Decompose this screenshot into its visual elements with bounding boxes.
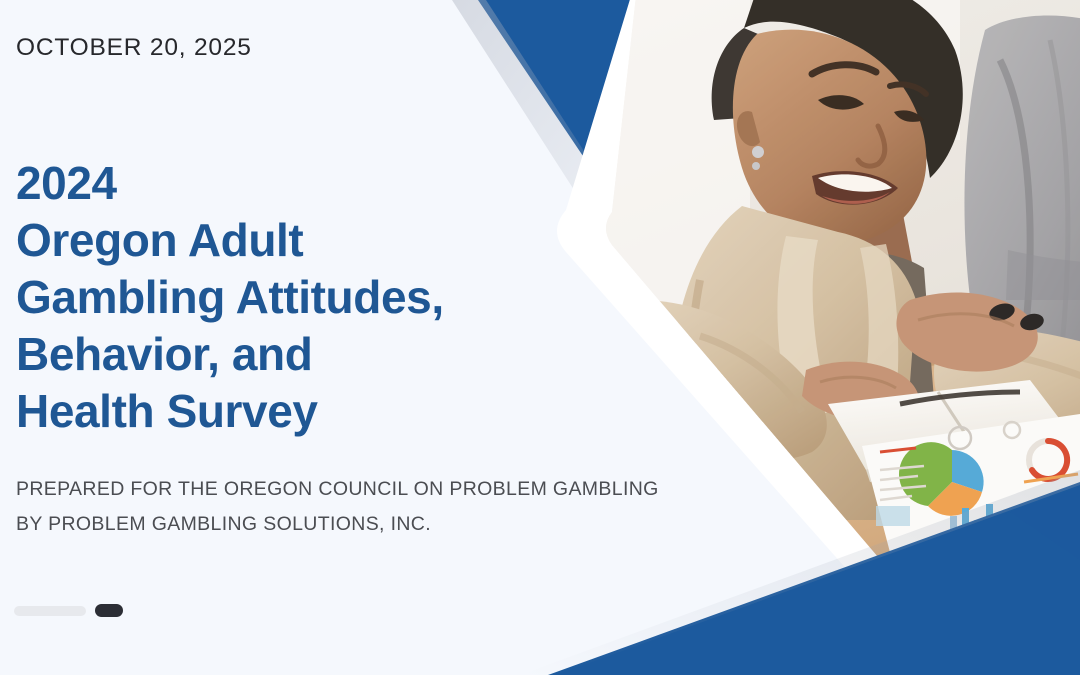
cover-photo [560,0,1080,675]
title-line-3: Gambling Attitudes, [16,269,444,326]
title-line-4: Behavior, and [16,326,444,383]
photo-mint-sheet [964,536,1072,604]
photo-inner-top [790,251,934,400]
photo-arms [625,292,1080,470]
title-line-5: Health Survey [16,383,444,440]
photo-hand-left [802,362,919,423]
prepared-by-block: PREPARED FOR THE OREGON COUNCIL ON PROBL… [16,472,659,542]
photo-wall [560,0,1080,675]
photo-report-bars [950,504,1017,532]
photo-hair [744,0,963,178]
photo-person-grey [964,15,1080,420]
photo-report-text-lines [880,466,1078,512]
progress-thumb[interactable] [95,604,123,617]
prepared-line-2: BY PROBLEM GAMBLING SOLUTIONS, INC. [16,507,659,542]
slide-progress-indicator[interactable] [14,604,123,617]
photo-report-pie [899,442,984,516]
photo-hand-right [896,292,1037,371]
progress-track[interactable] [14,606,86,616]
photo-person-woman [664,0,963,520]
page-title: 2024 Oregon Adult Gambling Attitudes, Be… [16,155,444,440]
title-slide: OCTOBER 20, 2025 2024 Oregon Adult Gambl… [0,0,1080,675]
photo-notebook [828,380,1072,482]
title-line-1: 2024 [16,155,444,212]
text-column: OCTOBER 20, 2025 2024 Oregon Adult Gambl… [0,0,600,675]
photo-report-donut [1029,441,1067,479]
white-chevron-frame [557,0,1080,675]
photo-face [733,30,926,245]
photo-blazer [664,206,916,520]
title-line-2: Oregon Adult [16,212,444,269]
date-label: OCTOBER 20, 2025 [16,34,252,62]
blue-wedge-corner [1010,487,1080,560]
prepared-line-1: PREPARED FOR THE OREGON COUNCIL ON PROBL… [16,472,659,507]
photo-chart-report [862,414,1080,560]
